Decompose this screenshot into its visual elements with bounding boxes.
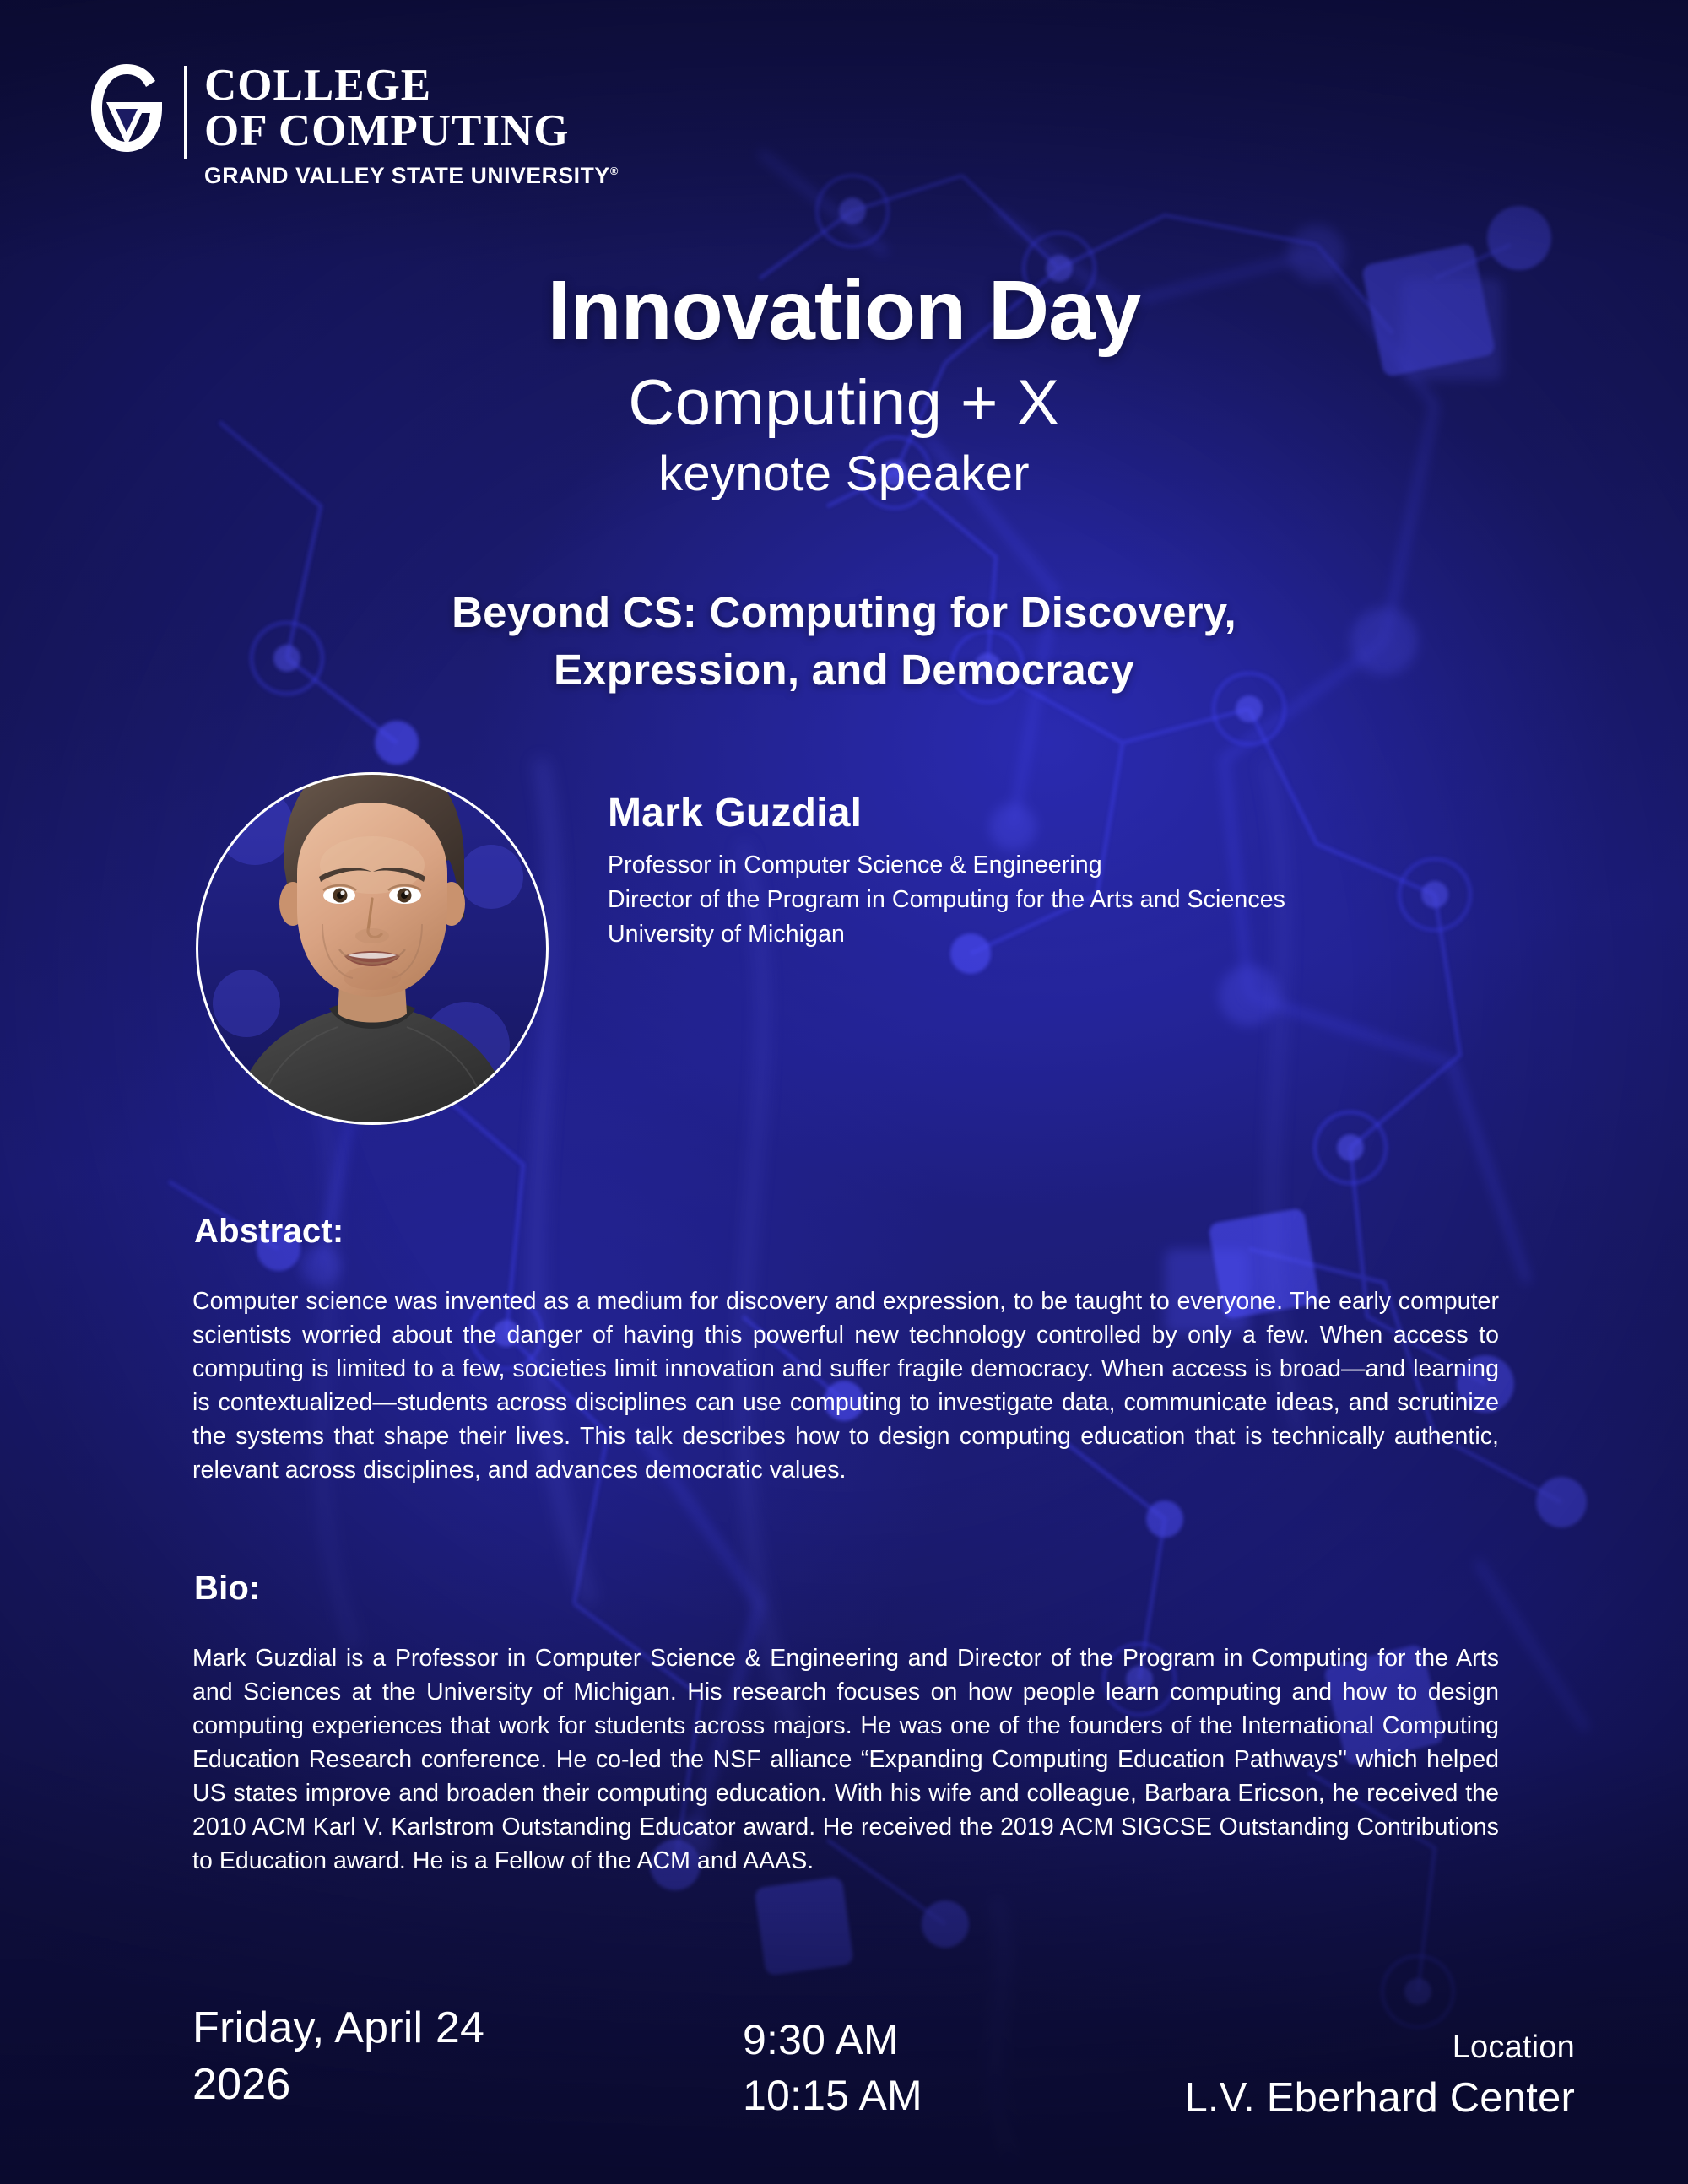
abstract-heading: Abstract:: [194, 1213, 344, 1251]
speaker-photo: [196, 725, 549, 1125]
event-location-label: Location: [1184, 2029, 1575, 2068]
logo-line-college: COLLEGE: [204, 62, 619, 108]
speaker-title-line-2: Director of the Program in Computing for…: [608, 883, 1285, 917]
bio-heading: Bio:: [194, 1570, 261, 1608]
talk-title-line-1: Beyond CS: Computing for Discovery,: [0, 584, 1688, 641]
event-date: Friday, April 24 2026: [192, 2000, 484, 2112]
event-times: 9:30 AM 10:15 AM: [743, 2012, 922, 2123]
talk-title: Beyond CS: Computing for Discovery, Expr…: [0, 584, 1688, 699]
speaker-photo-clip: [196, 725, 549, 1125]
event-date-line-1: Friday, April 24: [192, 2000, 484, 2057]
speaker-details: Mark Guzdial Professor in Computer Scien…: [608, 792, 1285, 952]
logo-line-university: GRAND VALLEY STATE UNIVERSITY®: [204, 163, 619, 189]
gvsu-college-of-computing-logo: COLLEGE OF COMPUTING GRAND VALLEY STATE …: [88, 62, 619, 189]
speaker-portrait: [196, 772, 549, 1125]
event-footer: Friday, April 24 2026 9:30 AM 10:15 AM L…: [0, 2000, 1688, 2169]
headline-block: Innovation Day Computing + X keynote Spe…: [0, 268, 1688, 502]
event-time-start: 9:30 AM: [743, 2012, 922, 2068]
event-location: Location L.V. Eberhard Center: [1184, 2029, 1575, 2124]
logo-wordmark: COLLEGE OF COMPUTING GRAND VALLEY STATE …: [204, 62, 619, 189]
event-location-value: L.V. Eberhard Center: [1184, 2073, 1575, 2124]
logo-line-of-computing: OF COMPUTING: [204, 108, 619, 154]
talk-title-line-2: Expression, and Democracy: [0, 641, 1688, 699]
poster-canvas: COLLEGE OF COMPUTING GRAND VALLEY STATE …: [0, 0, 1688, 2184]
logo-university-text: GRAND VALLEY STATE UNIVERSITY: [204, 163, 610, 188]
page-title: Innovation Day: [0, 268, 1688, 353]
gvsu-g-triangle-icon: [88, 62, 165, 154]
logo-divider-rule: [184, 66, 187, 159]
headline-keynote-label: keynote Speaker: [0, 446, 1688, 502]
bio-text: Mark Guzdial is a Professor in Computer …: [192, 1641, 1499, 1878]
speaker-title-line-1: Professor in Computer Science & Engineer…: [608, 848, 1285, 883]
speaker-affiliation: University of Michigan: [608, 917, 1285, 952]
event-time-end: 10:15 AM: [743, 2068, 922, 2123]
abstract-text: Computer science was invented as a mediu…: [192, 1284, 1499, 1487]
event-date-line-2: 2026: [192, 2057, 484, 2113]
speaker-headshot-illustration: [196, 725, 549, 1125]
headline-subtitle: Computing + X: [0, 366, 1688, 441]
speaker-name: Mark Guzdial: [608, 792, 1285, 836]
speaker-block: Mark Guzdial Professor in Computer Scien…: [0, 764, 1688, 1160]
registered-trademark-icon: ®: [610, 165, 619, 177]
